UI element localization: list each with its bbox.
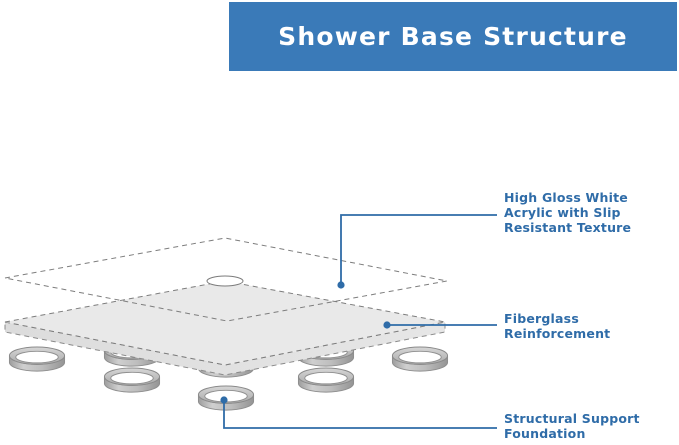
leader-line-support	[224, 400, 497, 428]
callout-support-line-2: Foundation	[504, 426, 640, 441]
callout-acrylic-line-3: Resistant Texture	[504, 220, 631, 235]
support-ring	[104, 368, 159, 392]
drain-opening	[207, 276, 243, 286]
callout-label-acrylic: High Gloss White Acrylic with Slip Resis…	[504, 190, 631, 235]
callout-support-line-1: Structural Support	[504, 411, 640, 426]
callout-label-support: Structural Support Foundation	[504, 411, 640, 441]
support-ring	[392, 347, 447, 371]
callout-acrylic-line-1: High Gloss White	[504, 190, 631, 205]
fiberglass-reinforcement-layer	[5, 281, 445, 375]
fiberglass-plate-top-face	[5, 281, 445, 365]
support-ring	[9, 347, 64, 371]
support-ring	[298, 368, 353, 392]
callout-acrylic-line-2: Acrylic with Slip	[504, 205, 631, 220]
leader-line-acrylic	[341, 215, 497, 285]
callout-fiberglass-line-2: Reinforcement	[504, 326, 610, 341]
callout-fiberglass-line-1: Fiberglass	[504, 311, 610, 326]
marker-dot-acrylic	[337, 281, 344, 288]
callout-label-fiberglass: Fiberglass Reinforcement	[504, 311, 610, 341]
marker-dot-fiberglass	[383, 321, 390, 328]
diagram-canvas: Shower Base Structure	[0, 0, 679, 445]
marker-dot-support	[220, 396, 227, 403]
